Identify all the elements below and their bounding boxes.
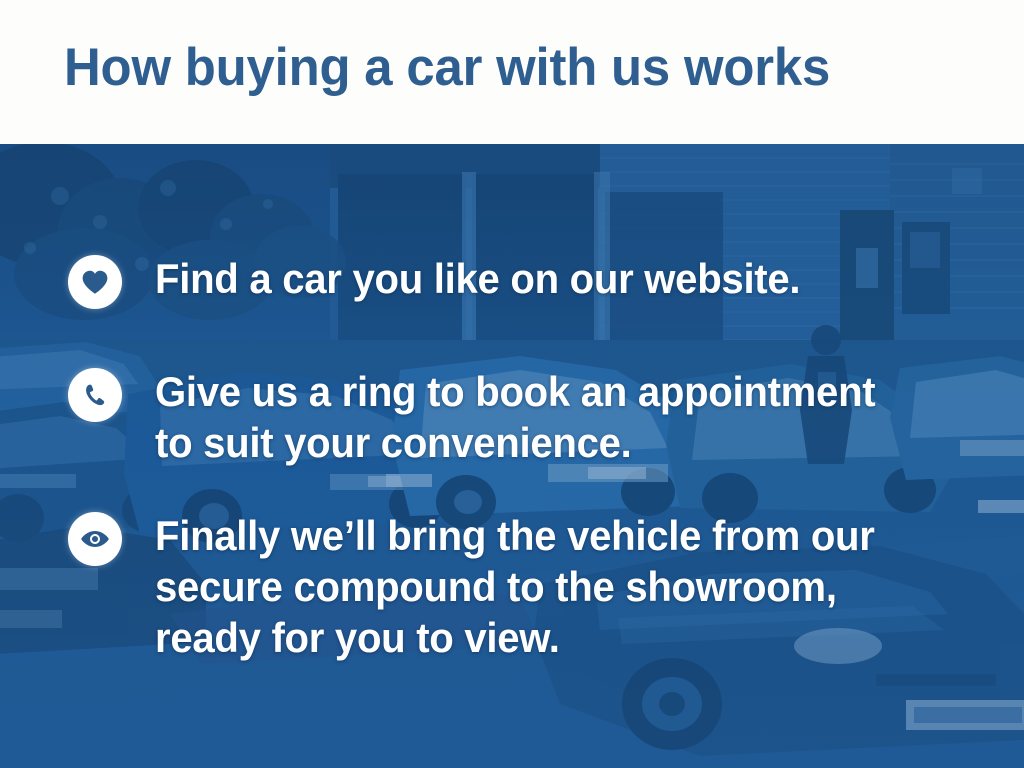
list-item-label: Give us a ring to book an appointment to…	[155, 366, 875, 468]
list-item-label: Finally we’ll bring the vehicle from our…	[155, 510, 875, 663]
page-title: How buying a car with us works	[64, 36, 830, 100]
slide-root: How buying a car with us works Find a ca…	[0, 0, 1024, 768]
heart-icon	[68, 255, 122, 309]
header-band: How buying a car with us works	[0, 0, 1024, 144]
steps-list: Find a car you like on our website. Give…	[0, 144, 1024, 768]
list-item-step-2: Give us a ring to book an appointment to…	[68, 366, 909, 468]
phone-icon	[68, 368, 122, 422]
list-item-step-3: Finally we’ll bring the vehicle from our…	[68, 510, 908, 663]
list-item-label: Find a car you like on our website.	[155, 253, 800, 304]
eye-icon	[68, 512, 122, 566]
list-item-step-1: Find a car you like on our website.	[68, 253, 831, 309]
